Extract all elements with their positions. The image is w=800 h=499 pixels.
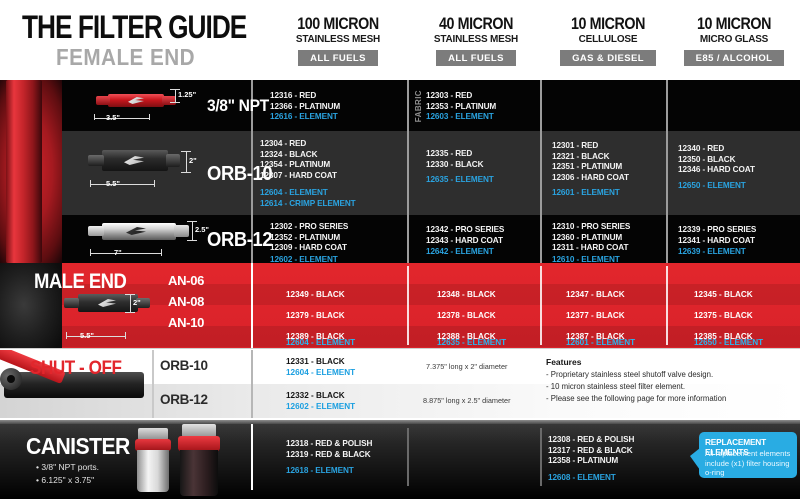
product-image-orb10-filter (88, 147, 193, 179)
part-number: 12324 - BLACK (260, 150, 356, 161)
part-number-element: 12635 - ELEMENT (437, 338, 506, 347)
row-label-shutoff-orb12: ORB-12 (160, 392, 208, 407)
column-micron-label: 10 MICRON (677, 14, 791, 33)
part-number: 12358 - PLATINUM (548, 456, 634, 467)
part-number: 12307 - HARD COAT (260, 171, 356, 182)
column-divider (540, 428, 542, 486)
part-number: 12331 - BLACK (286, 357, 345, 366)
part-number: 12316 - RED (270, 91, 340, 102)
dimension-tick (181, 151, 191, 152)
dimension-tick (170, 102, 180, 103)
dimension-tick (66, 332, 67, 339)
part-number: 12304 - RED (260, 139, 356, 150)
dimension-tick (90, 180, 91, 187)
section-subtitle-female-end: FEMALE END (56, 44, 195, 71)
column-divider (407, 80, 409, 131)
part-number-element: 12639 - ELEMENT (678, 247, 756, 258)
section-label-shutoff: SHUT - OFF (30, 358, 121, 380)
part-number: 12366 - PLATINUM (270, 102, 340, 113)
filter-guide-sheet: THE FILTER GUIDE FEMALE END 100 MICRON S… (0, 0, 800, 499)
part-number: 12302 - PRO SERIES (270, 222, 348, 233)
part-number-element: 12642 - ELEMENT (426, 247, 504, 258)
part-number: 12345 - BLACK (694, 290, 753, 299)
dimension-tick (94, 114, 95, 120)
header: THE FILTER GUIDE FEMALE END 100 MICRON S… (0, 0, 800, 80)
canister-bullet: • 3/8" NPT ports. (36, 462, 99, 472)
part-number-element: 12650 - ELEMENT (694, 338, 763, 347)
column-fuel-badge: E85 / ALCOHOL (684, 50, 785, 66)
brand-logo-icon (10, 166, 36, 184)
dimension-line (90, 253, 162, 254)
dimension-tick (192, 221, 193, 241)
dimension-tick (90, 249, 91, 256)
part-number: 12330 - BLACK (426, 160, 494, 171)
column-divider (540, 266, 542, 345)
row-label-shutoff-orb10: ORB-10 (160, 358, 208, 373)
part-number-element: 12603 - ELEMENT (426, 112, 496, 123)
part-number-element: 12604 - ELEMENT (286, 368, 355, 377)
dimension-length-label: 3.5" (106, 113, 120, 122)
dimension-tick (187, 221, 197, 222)
product-image-npt-filter (92, 88, 186, 114)
column-divider (251, 424, 253, 490)
dimension-line (90, 184, 155, 185)
shutoff-section: SHUT - OFF ORB-10 ORB-12 12331 - BLACK 1… (0, 348, 800, 420)
row-label-an08: AN-08 (168, 294, 204, 309)
part-number: 12346 - HARD COAT (678, 165, 755, 176)
product-image-canister-black (172, 424, 234, 496)
part-number-element: 12618 - ELEMENT (286, 466, 372, 477)
cell-canister-10-micron: 12308 - RED & POLISH 12317 - RED & BLACK… (548, 435, 634, 484)
part-number: 12377 - BLACK (566, 311, 625, 320)
column-fuel-badge: ALL FUELS (436, 50, 516, 66)
part-number: 12354 - PLATINUM (260, 160, 356, 171)
part-number-element: 12650 - ELEMENT (678, 181, 755, 192)
part-number: 12317 - RED & BLACK (548, 446, 634, 457)
dimension-diameter-label: 2" (133, 298, 141, 307)
cell-canister-100-micron: 12318 - RED & POLISH 12319 - RED & BLACK… (286, 439, 372, 477)
canister-section: CANISTER • 3/8" NPT ports. • 6.125" x 3.… (0, 420, 800, 499)
part-number-element: 12635 - ELEMENT (426, 175, 494, 186)
column-header-100-micron: 100 MICRON STAINLESS MESH ALL FUELS (270, 14, 406, 66)
part-number: 12347 - BLACK (566, 290, 625, 299)
cell-100-micron: 12304 - RED 12324 - BLACK 12354 - PLATIN… (260, 139, 356, 223)
column-media-label: STAINLESS MESH (273, 33, 402, 46)
dimension-tick (125, 312, 135, 313)
part-number: 12335 - RED (426, 149, 494, 160)
part-number: 12311 - HARD COAT (552, 243, 630, 254)
row-label-an06: AN-06 (168, 273, 204, 288)
column-media-label: MICRO GLASS (669, 33, 798, 46)
part-number-element: 12616 - ELEMENT (270, 112, 340, 123)
column-header-10-micron-micro-glass: 10 MICRON MICRO GLASS E85 / ALCOHOL (666, 14, 800, 66)
part-number-element: 12608 - ELEMENT (548, 473, 634, 484)
part-number: 12308 - RED & POLISH (548, 435, 634, 446)
product-image-orb12-filter (88, 221, 198, 249)
part-number: 12301 - RED (552, 141, 629, 152)
dimension-note-orb12: 8.875" long x 2.5" diameter (423, 396, 511, 405)
table-row: 5.5" 2" ORB-10 12304 - RED 12324 - BLACK… (62, 131, 800, 215)
column-divider (540, 131, 542, 215)
dimension-tick (175, 89, 176, 103)
dimension-line (94, 118, 150, 119)
column-divider (407, 215, 409, 263)
badge-text: All replacement elements include (x1) fi… (705, 449, 797, 478)
features-heading: Features (546, 357, 581, 367)
part-number: 12342 - PRO SERIES (426, 225, 504, 236)
column-divider (407, 131, 409, 215)
section-divider (0, 348, 800, 349)
column-divider (407, 428, 409, 486)
part-number: 12360 - PLATINUM (552, 233, 630, 244)
column-divider (540, 215, 542, 263)
feature-item: - 10 micron stainless steel filter eleme… (546, 382, 685, 391)
part-number-element: 12601 - ELEMENT (552, 188, 629, 199)
column-divider (666, 131, 668, 215)
part-number: 12349 - BLACK (286, 290, 345, 299)
column-header-40-micron: 40 MICRON STAINLESS MESH ALL FUELS (408, 14, 544, 66)
product-image-an-filter (64, 290, 164, 320)
part-number: 12341 - HARD COAT (678, 236, 756, 247)
row-label-orb12: ORB-12 (207, 229, 272, 252)
product-image-red-filter-large (0, 80, 62, 263)
dimension-tick (149, 114, 150, 120)
dimension-length-label: 5.5" (106, 179, 120, 188)
column-divider (251, 350, 253, 418)
part-number: 12310 - PRO SERIES (552, 222, 630, 233)
part-number: 12352 - PLATINUM (270, 233, 348, 244)
feature-item: - Please see the following page for more… (546, 394, 726, 403)
canister-bullet: • 6.125" x 3.75" (36, 475, 94, 485)
column-divider (251, 263, 253, 348)
part-number: 12309 - HARD COAT (270, 243, 348, 254)
part-number: 12321 - BLACK (552, 152, 629, 163)
part-number: 12375 - BLACK (694, 311, 753, 320)
part-number: 12340 - RED (678, 144, 755, 155)
column-divider (666, 215, 668, 263)
column-media-label: STAINLESS MESH (411, 33, 540, 46)
part-number: 12339 - PRO SERIES (678, 225, 756, 236)
table-row: 3.5" 1.25" 3/8" NPT 12316 - RED 12366 - … (62, 80, 800, 131)
dimension-length-label: 7" (114, 248, 122, 257)
column-micron-label: 10 MICRON (551, 14, 665, 33)
dimension-length-label: 5.5" (80, 331, 94, 340)
part-number: 12303 - RED (426, 91, 496, 102)
dimension-note-orb10: 7.375" long x 2" diameter (426, 362, 507, 371)
dimension-diameter-label: 2" (189, 156, 197, 165)
feature-item: - Proprietary stainless steel shutoff va… (546, 370, 713, 379)
part-number: 12343 - HARD COAT (426, 236, 504, 247)
part-number: 12319 - RED & BLACK (286, 450, 372, 461)
part-number: 12379 - BLACK (286, 311, 345, 320)
row-label-npt: 3/8" NPT (207, 96, 269, 116)
part-number-element: 12602 - ELEMENT (286, 402, 355, 411)
dimension-tick (154, 180, 155, 187)
dimension-tick (125, 294, 135, 295)
part-number: 12332 - BLACK (286, 391, 345, 400)
column-micron-label: 100 MICRON (281, 14, 395, 33)
column-micron-label: 40 MICRON (419, 14, 533, 33)
dimension-tick (186, 151, 187, 173)
part-number: 12318 - RED & POLISH (286, 439, 372, 450)
dimension-line (66, 336, 126, 337)
column-divider (407, 266, 409, 345)
part-number: 12351 - PLATINUM (552, 162, 629, 173)
column-fuel-badge: ALL FUELS (298, 50, 378, 66)
column-fuel-badge: GAS & DIESEL (560, 50, 656, 66)
male-end-section: MALE END 5.5" 2" AN-06 AN-08 AN-10 12349… (0, 263, 800, 348)
part-number-crimp-element: 12614 - CRIMP ELEMENT (260, 199, 356, 210)
cell-10-micron-cellulose: 12301 - RED 12321 - BLACK 12351 - PLATIN… (552, 141, 629, 225)
column-divider (666, 266, 668, 345)
dimension-tick (125, 332, 126, 339)
part-number-element: 12604 - ELEMENT (260, 188, 356, 199)
part-number: 12378 - BLACK (437, 311, 496, 320)
row-label-an10: AN-10 (168, 315, 204, 330)
part-number: 12306 - HARD COAT (552, 173, 629, 184)
fabric-tag: FABRIC (414, 90, 423, 122)
page-title: THE FILTER GUIDE (22, 9, 246, 46)
part-number-element: 12604 - ELEMENT (286, 338, 355, 347)
table-row: 7" 2.5" ORB-12 12302 - PRO SERIES 12352 … (62, 215, 800, 263)
section-label-canister: CANISTER (26, 433, 130, 460)
part-number: 12350 - BLACK (678, 155, 755, 166)
column-divider (666, 80, 668, 131)
section-divider (0, 420, 800, 424)
column-divider (540, 80, 542, 131)
dimension-tick (161, 249, 162, 256)
column-media-label: CELLULOSE (543, 33, 672, 46)
part-number-element: 12601 - ELEMENT (566, 338, 635, 347)
part-number: 12348 - BLACK (437, 290, 496, 299)
dimension-tick (187, 240, 197, 241)
replacement-elements-badge: REPLACEMENT ELEMENTS All replacement ele… (699, 432, 797, 478)
dimension-tick (130, 294, 131, 313)
column-divider (152, 350, 154, 418)
part-number: 12353 - PLATINUM (426, 102, 496, 113)
female-end-table: 3.5" 1.25" 3/8" NPT 12316 - RED 12366 - … (0, 80, 800, 263)
dimension-diameter-label: 1.25" (178, 90, 196, 99)
dimension-tick (181, 172, 191, 173)
column-header-10-micron-cellulose: 10 MICRON CELLULOSE GAS & DIESEL (540, 14, 676, 66)
